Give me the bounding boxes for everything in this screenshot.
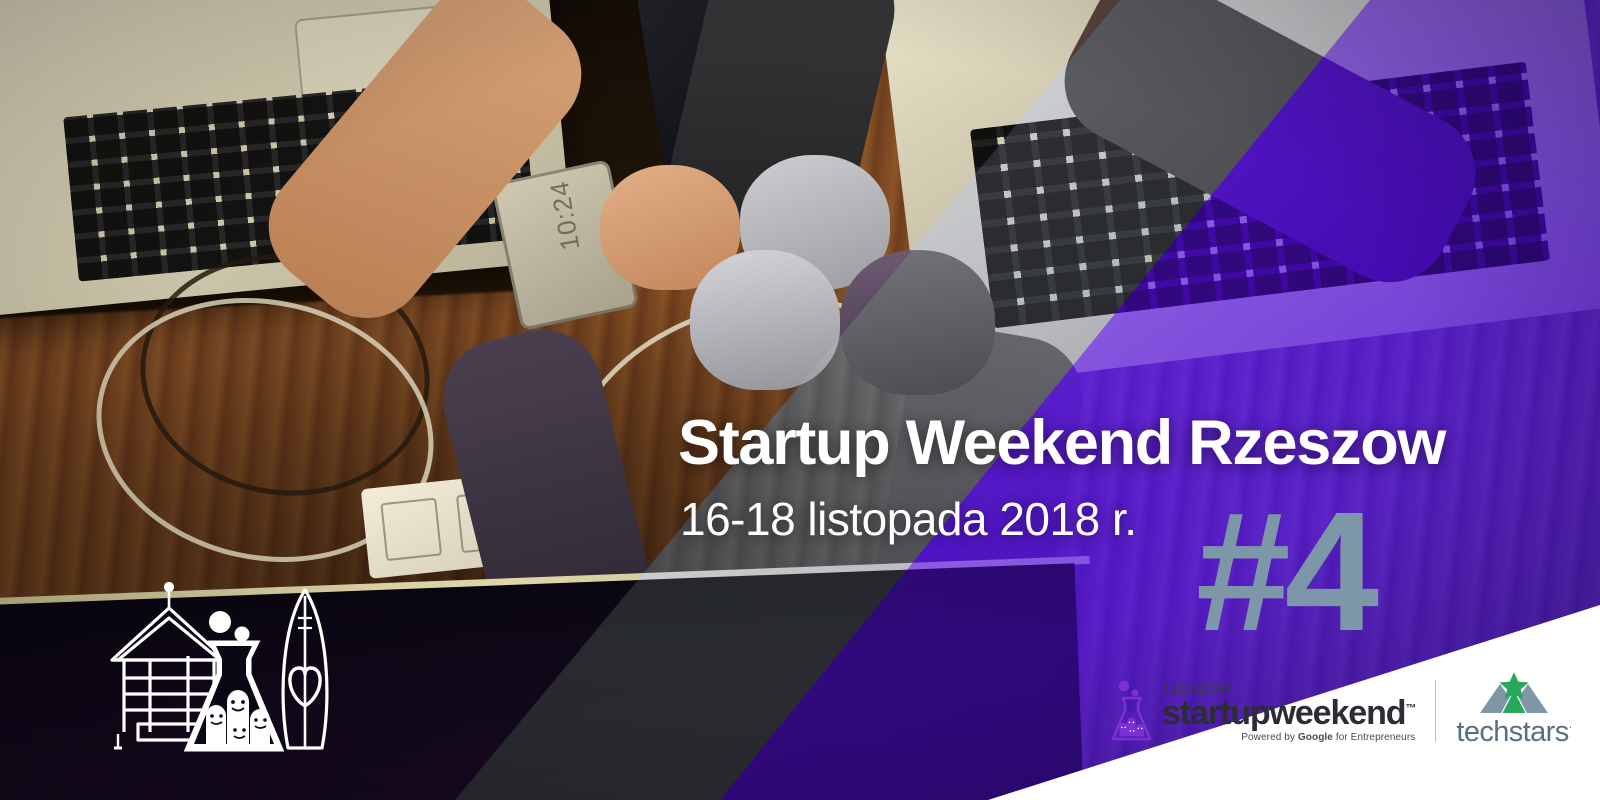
startup-weekend-flask-icon [1108,680,1154,742]
powered-prefix: Powered by [1241,732,1298,743]
techstars-wordmark: techstars· [1456,716,1571,749]
startup-weekend-wordmark: rzeszow startupweekend™ Powered by Googl… [1162,678,1415,743]
flask-with-people-icon [186,611,282,750]
powered-suffix: for Entrepreneurs [1333,732,1415,743]
edition-badge: #4 [1196,487,1373,657]
event-date: 16-18 listopada 2018 r. [680,496,1137,542]
techstars-logo: techstars· [1456,672,1571,749]
techstars-word-text: techstars [1456,716,1568,748]
sw-main-wordmark: startupweekend™ [1162,696,1415,730]
sw-wordmark-text: startupweekend [1162,694,1405,732]
techstars-star-mountain-icon [1478,672,1550,714]
sw-trademark: ™ [1405,703,1415,715]
event-title: Startup Weekend Rzeszow [678,412,1445,475]
logo-divider [1435,680,1436,742]
techstars-registered: · [1569,721,1572,733]
event-banner: 10:24 [0,0,1600,800]
rzeszow-city-emblem [98,582,333,762]
logo-lockup: rzeszow startupweekend™ Powered by Googl… [1108,672,1572,749]
powered-brand: Google [1298,732,1333,743]
sw-powered-by: Powered by Google for Entrepreneurs [1162,733,1415,743]
monument-heart-icon [283,590,327,748]
